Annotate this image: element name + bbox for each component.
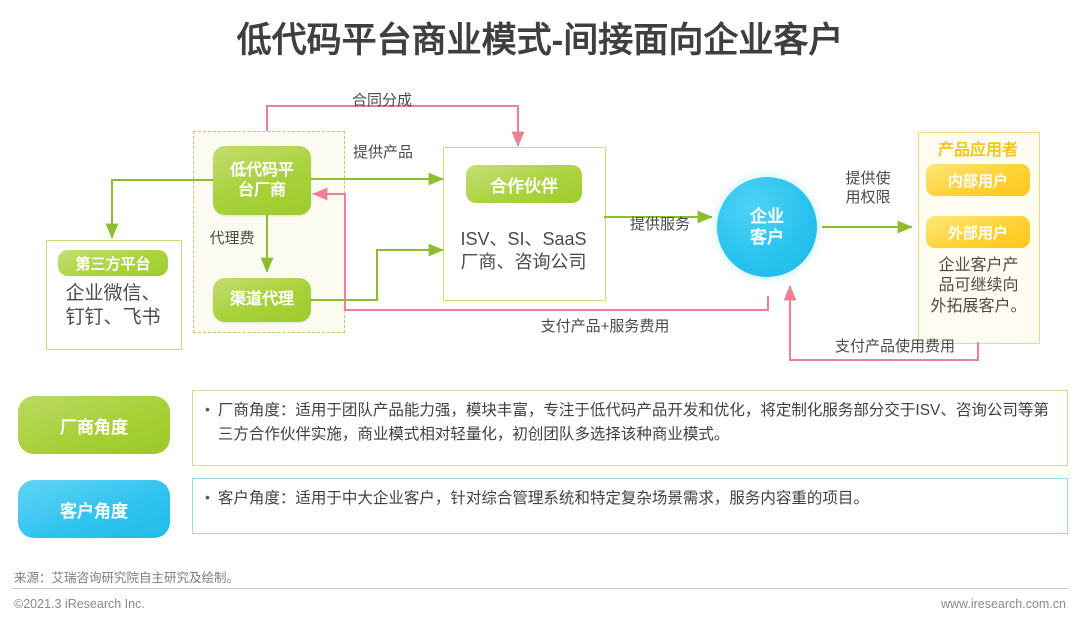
vendor-perspective-text: 厂商角度：适用于团队产品能力强，模块丰富，专注于低代码产品开发和优化，将定制化服…	[218, 399, 1057, 457]
flow-label-agency-fee: 代理费	[196, 230, 268, 249]
internal-user-box[interactable]: 内部用户	[926, 164, 1030, 196]
customer-perspective-chip[interactable]: 客户角度	[18, 480, 170, 538]
partner-line-2: 厂商、咨询公司	[461, 252, 587, 272]
third-party-line-2: 钉钉、飞书	[65, 307, 160, 328]
product-users-note: 企业客户产 品可继续向 外拓展客户。	[920, 256, 1037, 317]
usage-rights-line-1: 提供使	[845, 170, 890, 187]
flow-label-pay-product-service: 支付产品+服务费用	[450, 318, 760, 337]
third-party-line-1: 企业微信、	[65, 283, 160, 304]
flow-label-pay-product-usage: 支付产品使用费用	[790, 338, 1000, 357]
vendor-perspective-body: • 厂商角度：适用于团队产品能力强，模块丰富，专注于低代码产品开发和优化，将定制…	[192, 390, 1068, 466]
users-note-line-1: 企业客户产	[938, 257, 1018, 274]
vendor-bullet-icon: •	[205, 399, 210, 457]
low-code-vendor-label: 低代码平台厂商	[230, 161, 294, 200]
footer-divider	[12, 588, 1068, 589]
customer-perspective-text: 客户角度：适用于中大企业客户，针对综合管理系统和特定复杂场景需求，服务内容重的项…	[218, 487, 1057, 525]
usage-rights-line-2: 用权限	[845, 189, 890, 206]
product-users-title: 产品应用者	[918, 136, 1038, 160]
customer-perspective-body: • 客户角度：适用于中大企业客户，针对综合管理系统和特定复杂场景需求，服务内容重…	[192, 478, 1068, 534]
external-user-box[interactable]: 外部用户	[926, 216, 1030, 248]
partner-members: ISV、SI、SaaS 厂商、咨询公司	[443, 228, 604, 274]
low-code-vendor-node[interactable]: 低代码平台厂商	[213, 146, 311, 215]
channel-agent-node[interactable]: 渠道代理	[213, 278, 311, 322]
vendor-perspective-chip[interactable]: 厂商角度	[18, 396, 170, 454]
flow-label-grant-usage-rights: 提供使 用权限	[824, 170, 912, 208]
third-party-platform-members: 企业微信、 钉钉、飞书	[46, 282, 180, 331]
customer-bullet-icon: •	[205, 487, 210, 525]
copyright-text: ©2021.3 iResearch Inc.	[14, 597, 145, 611]
source-note: 来源：艾瑞咨询研究院自主研究及绘制。	[14, 567, 239, 586]
flow-label-contract-share: 合同分成	[272, 92, 492, 111]
users-note-line-3: 外拓展客户。	[930, 298, 1026, 315]
slide-canvas: 低代码平台商业模式-间接面向企业客户	[0, 0, 1080, 624]
third-party-platform-chip[interactable]: 第三方平台	[58, 250, 168, 276]
partner-chip[interactable]: 合作伙伴	[466, 165, 582, 203]
website-text: www.iresearch.com.cn	[941, 597, 1066, 611]
enterprise-customer-node[interactable]: 企业客户	[717, 177, 817, 277]
enterprise-customer-label: 企业客户	[750, 206, 784, 249]
page-title: 低代码平台商业模式-间接面向企业客户	[0, 12, 1080, 63]
flow-label-provide-service: 提供服务	[608, 216, 712, 235]
users-note-line-2: 品可继续向	[938, 277, 1018, 294]
flow-label-provide-product: 提供产品	[318, 144, 448, 163]
partner-line-1: ISV、SI、SaaS	[460, 229, 586, 249]
